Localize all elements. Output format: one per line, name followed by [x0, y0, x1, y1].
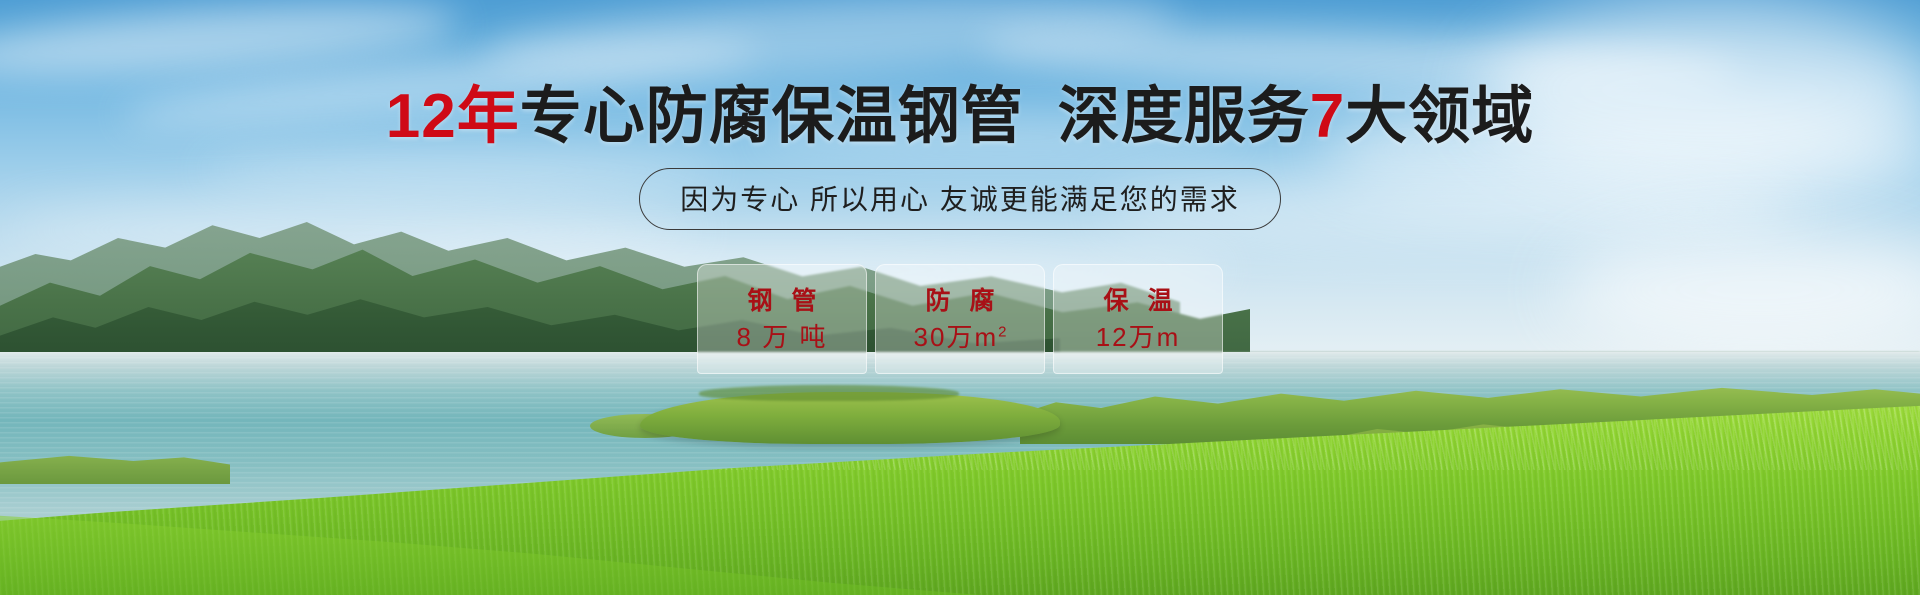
banner-headline: 12年专心防腐保温钢管深度服务7大领域	[0, 86, 1920, 148]
stat-card-anticorrosion[interactable]: 防 腐 30万m2	[875, 264, 1045, 374]
stat-card-label: 保 温	[1098, 289, 1179, 314]
center-island	[640, 392, 1060, 444]
banner-subtitle-wrap: 因为专心 所以用心 友诚更能满足您的需求	[0, 168, 1920, 230]
banner-subtitle: 因为专心 所以用心 友诚更能满足您的需求	[639, 168, 1281, 230]
headline-service-segment: 深度服务	[1058, 82, 1310, 151]
headline-years-number: 12	[386, 82, 457, 151]
stat-card-value-superscript: 2	[998, 323, 1006, 340]
stat-card-group: 钢 管 8 万 吨 防 腐 30万m2 保 温 12万m	[0, 264, 1920, 374]
headline-years-unit: 年	[457, 82, 520, 151]
hero-banner: 12年专心防腐保温钢管深度服务7大领域 因为专心 所以用心 友诚更能满足您的需求…	[0, 0, 1920, 595]
cloud-icon	[479, 0, 1182, 88]
stat-card-value: 8 万 吨	[737, 324, 828, 350]
stat-card-insulation[interactable]: 保 温 12万m	[1053, 264, 1223, 374]
stat-card-value: 30万m2	[914, 324, 1007, 350]
stat-card-label: 钢 管	[742, 289, 823, 314]
stat-card-value: 12万m	[1096, 324, 1181, 350]
headline-main-segment: 专心防腐保温钢管	[520, 82, 1024, 151]
headline-fields-suffix: 大领域	[1345, 82, 1534, 151]
headline-fields-number: 7	[1310, 82, 1345, 151]
cloud-icon	[0, 0, 461, 88]
stat-card-steel-pipe[interactable]: 钢 管 8 万 吨	[697, 264, 867, 374]
stat-card-label: 防 腐	[920, 289, 1001, 314]
stat-card-value-text: 30万m	[914, 322, 999, 352]
